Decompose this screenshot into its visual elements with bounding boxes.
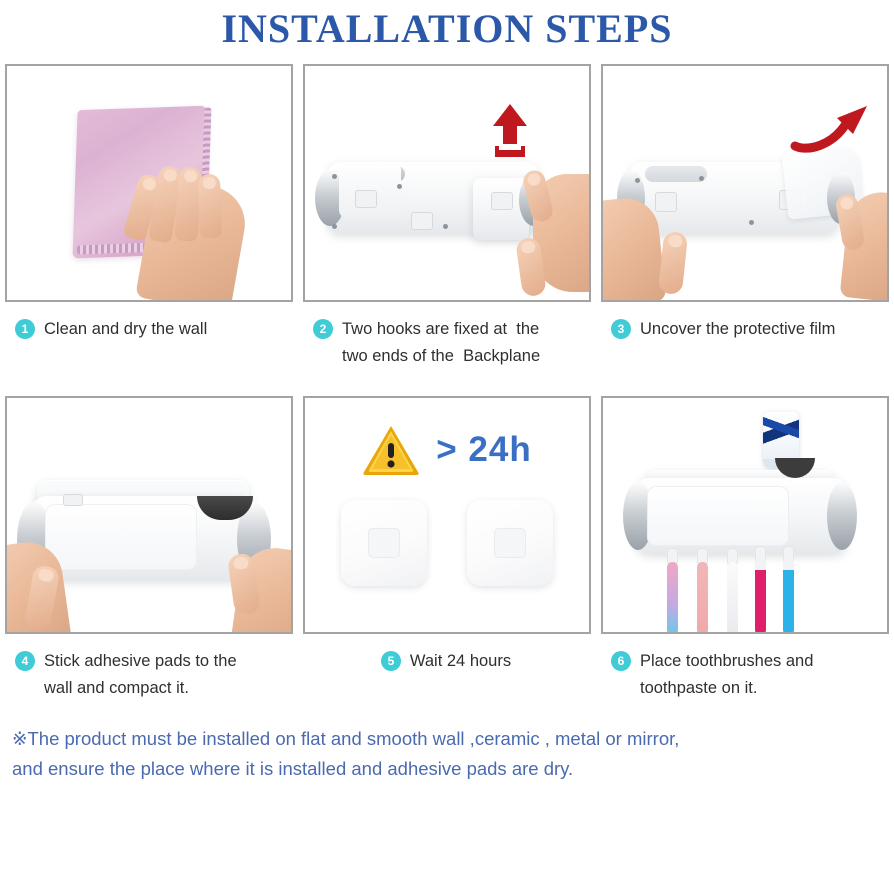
- illustration-hand-wiping-cloth: [7, 66, 291, 300]
- backplane-screw-2: [332, 224, 337, 229]
- step-caption-text-5: Wait 24 hours: [410, 648, 511, 675]
- step-cell-4: 4 Stick adhesive pads to the wall and co…: [0, 396, 298, 702]
- adhesive-pads-group: [305, 500, 589, 586]
- step-caption-3: 3 Uncover the protective film: [601, 302, 889, 370]
- toothbrush-5: [783, 558, 794, 634]
- steps-grid: 1 Clean and dry the wall: [0, 52, 894, 702]
- step-badge-4: 4: [15, 651, 35, 671]
- step-cell-6: 6 Place toothbrushes and toothpaste on i…: [596, 396, 894, 702]
- step-caption-text-4: Stick adhesive pads to the wall and comp…: [44, 648, 237, 701]
- illustration-peel-protective-film: [603, 66, 887, 300]
- curved-arrow-icon: [789, 102, 879, 154]
- adhesive-pad-1: [341, 500, 427, 586]
- device-front-cover-4: [45, 504, 197, 570]
- backplane-screw-3: [397, 184, 402, 189]
- step-caption-4: 4 Stick adhesive pads to the wall and co…: [5, 634, 293, 702]
- device-screw-3c: [699, 176, 704, 181]
- device-screw-3a: [635, 178, 640, 183]
- step-image-4: [5, 396, 293, 634]
- step-image-2: [303, 64, 591, 302]
- backplane-slot-left: [355, 190, 377, 208]
- device-vent-3: [645, 166, 707, 182]
- backplane-screw-4: [443, 224, 448, 229]
- step-image-6: [601, 396, 889, 634]
- toothbrush-3: [727, 562, 738, 634]
- duration-label: > 24h: [436, 430, 531, 470]
- page-title: INSTALLATION STEPS: [0, 0, 894, 52]
- device-screw-3d: [749, 220, 754, 225]
- step-badge-2: 2: [313, 319, 333, 339]
- device-slot-left-3: [655, 192, 677, 212]
- step-cell-5: > 24h 5 Wait 24 hours: [298, 396, 596, 702]
- step-caption-text-2: Two hooks are fixed at the two ends of t…: [342, 316, 540, 369]
- holder-right-cap: [827, 482, 857, 550]
- device-tab-4: [63, 494, 83, 506]
- holder-front-cover: [647, 486, 789, 546]
- step-caption-text-6: Place toothbrushes and toothpaste on it.: [640, 648, 813, 701]
- footer-note: ※The product must be installed on flat a…: [0, 702, 894, 784]
- step-caption-1: 1 Clean and dry the wall: [5, 302, 293, 370]
- toothbrush-4: [755, 558, 766, 634]
- step-badge-5: 5: [381, 651, 401, 671]
- hand-finger-left-3: [658, 231, 688, 295]
- toothbrush-2: [697, 562, 708, 634]
- step-image-5: > 24h: [303, 396, 591, 634]
- backplane-slot-right: [491, 192, 513, 210]
- step-caption-2: 2 Two hooks are fixed at the two ends of…: [303, 302, 591, 370]
- step-caption-6: 6 Place toothbrushes and toothpaste on i…: [601, 634, 889, 702]
- warning-triangle-icon: [362, 424, 420, 476]
- warning-row: > 24h: [305, 424, 589, 476]
- illustration-wait-24h: > 24h: [305, 398, 589, 632]
- row-divider: [0, 370, 894, 396]
- step-caption-text-3: Uncover the protective film: [640, 316, 835, 343]
- step-badge-1: 1: [15, 319, 35, 339]
- backplane-slot-center: [411, 212, 433, 230]
- step-badge-6: 6: [611, 651, 631, 671]
- illustration-mounted-holder: [603, 398, 887, 632]
- step-image-1: [5, 64, 293, 302]
- toothbrush-1: [667, 562, 678, 634]
- adhesive-pad-2: [467, 500, 553, 586]
- illustration-backplane-hook: [305, 66, 589, 300]
- hand-finger-4: [198, 174, 222, 239]
- step-cell-3: 3 Uncover the protective film: [596, 64, 894, 370]
- step-cell-2: 2 Two hooks are fixed at the two ends of…: [298, 64, 596, 370]
- up-arrow-icon: [487, 102, 533, 158]
- step-caption-text-1: Clean and dry the wall: [44, 316, 207, 343]
- step-caption-5: 5 Wait 24 hours: [303, 634, 591, 702]
- illustration-press-device: [7, 398, 291, 632]
- step-badge-3: 3: [611, 319, 631, 339]
- step-cell-1: 1 Clean and dry the wall: [0, 64, 298, 370]
- backplane-screw-1: [332, 174, 337, 179]
- step-image-3: [601, 64, 889, 302]
